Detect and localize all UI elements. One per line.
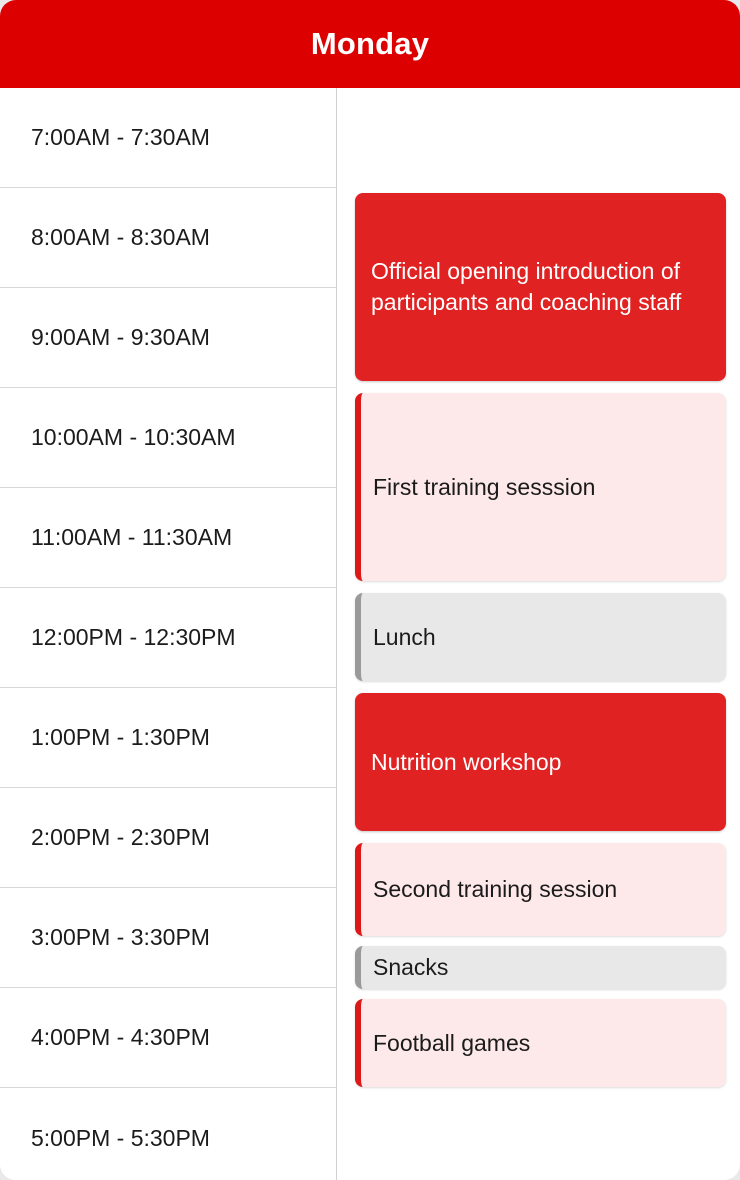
time-slot-label: 7:00AM - 7:30AM bbox=[31, 124, 210, 151]
time-slot-label: 10:00AM - 10:30AM bbox=[31, 424, 236, 451]
event-block[interactable]: First training sesssion bbox=[355, 393, 726, 581]
time-slot-label: 12:00PM - 12:30PM bbox=[31, 624, 236, 651]
time-slot-label: 4:00PM - 4:30PM bbox=[31, 1024, 210, 1051]
event-block[interactable]: Lunch bbox=[355, 593, 726, 681]
event-block[interactable]: Snacks bbox=[355, 946, 726, 989]
event-block[interactable]: Second training session bbox=[355, 843, 726, 936]
time-slot-label: 2:00PM - 2:30PM bbox=[31, 824, 210, 851]
time-slot-label: 3:00PM - 3:30PM bbox=[31, 924, 210, 951]
time-slot-label: 8:00AM - 8:30AM bbox=[31, 224, 210, 251]
time-column: 7:00AM - 7:30AM8:00AM - 8:30AM9:00AM - 9… bbox=[0, 88, 337, 1180]
event-title: Nutrition workshop bbox=[371, 747, 561, 778]
event-column: Official opening introduction of partici… bbox=[338, 88, 740, 1180]
time-slot-row[interactable]: 3:00PM - 3:30PM bbox=[0, 888, 336, 988]
time-slot-row[interactable]: 9:00AM - 9:30AM bbox=[0, 288, 336, 388]
event-title: Football games bbox=[373, 1028, 530, 1059]
event-title: Snacks bbox=[373, 952, 448, 983]
time-slot-row[interactable]: 12:00PM - 12:30PM bbox=[0, 588, 336, 688]
time-slot-row[interactable]: 10:00AM - 10:30AM bbox=[0, 388, 336, 488]
time-slot-row[interactable]: 1:00PM - 1:30PM bbox=[0, 688, 336, 788]
event-title: Official opening introduction of partici… bbox=[371, 256, 714, 318]
day-header: Monday bbox=[0, 0, 740, 88]
time-slot-row[interactable]: 7:00AM - 7:30AM bbox=[0, 88, 336, 188]
time-slot-label: 1:00PM - 1:30PM bbox=[31, 724, 210, 751]
event-title: Lunch bbox=[373, 622, 436, 653]
event-title: Second training session bbox=[373, 874, 617, 905]
time-slot-label: 11:00AM - 11:30AM bbox=[31, 524, 232, 551]
event-block[interactable]: Nutrition workshop bbox=[355, 693, 726, 831]
event-block[interactable]: Football games bbox=[355, 999, 726, 1087]
time-slot-row[interactable]: 2:00PM - 2:30PM bbox=[0, 788, 336, 888]
time-slot-row[interactable]: 4:00PM - 4:30PM bbox=[0, 988, 336, 1088]
time-slot-label: 5:00PM - 5:30PM bbox=[31, 1125, 210, 1152]
day-title: Monday bbox=[311, 26, 429, 62]
event-title: First training sesssion bbox=[373, 472, 595, 503]
time-slot-row[interactable]: 11:00AM - 11:30AM bbox=[0, 488, 336, 588]
time-slot-row[interactable]: 8:00AM - 8:30AM bbox=[0, 188, 336, 288]
time-slot-row[interactable]: 5:00PM - 5:30PM bbox=[0, 1088, 336, 1180]
schedule-card: Monday 7:00AM - 7:30AM8:00AM - 8:30AM9:0… bbox=[0, 0, 740, 1180]
time-slot-label: 9:00AM - 9:30AM bbox=[31, 324, 210, 351]
schedule-body: 7:00AM - 7:30AM8:00AM - 8:30AM9:00AM - 9… bbox=[0, 88, 740, 1180]
event-block[interactable]: Official opening introduction of partici… bbox=[355, 193, 726, 381]
